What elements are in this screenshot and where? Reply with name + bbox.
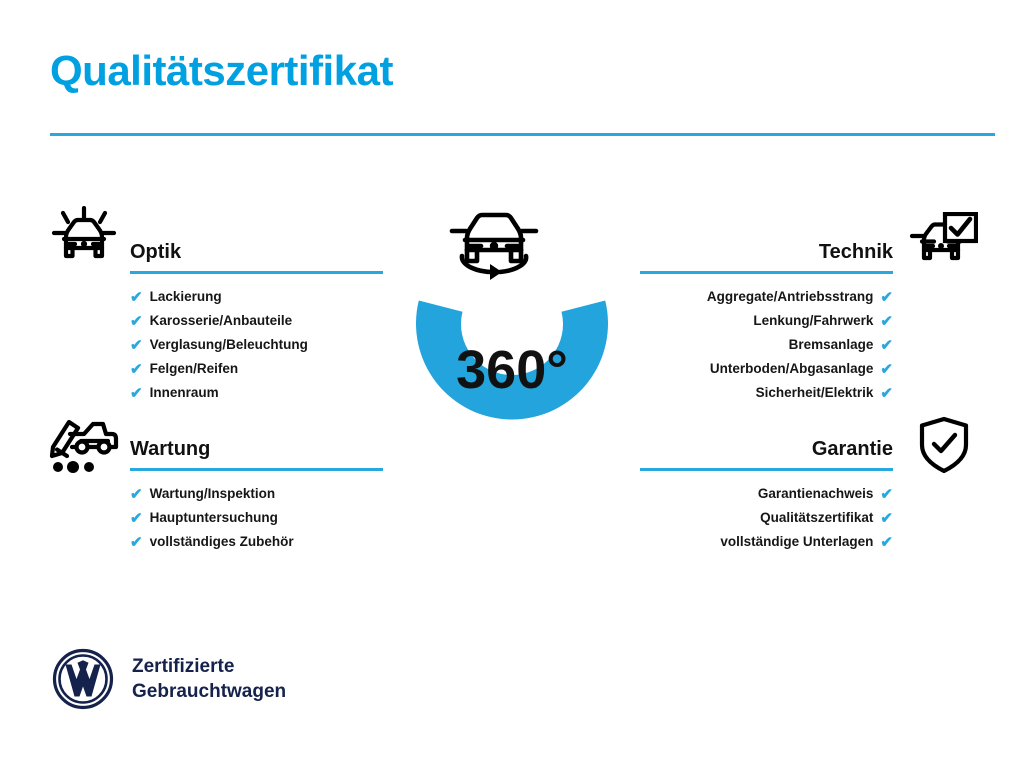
check-icon: ✔: [880, 338, 893, 353]
list-item: ✔vollständiges Zubehör: [130, 530, 383, 554]
list-item: Bremsanlage✔: [640, 333, 893, 357]
check-icon: ✔: [130, 386, 143, 401]
check-icon: ✔: [880, 290, 893, 305]
section-wartung: Wartung ✔Wartung/Inspektion ✔Hauptunters…: [130, 437, 383, 554]
list-item: ✔Verglasung/Beleuchtung: [130, 333, 383, 357]
section-garantie: Garantie Garantienachweis✔ Qualitätszert…: [640, 437, 893, 554]
list-item-label: Felgen/Reifen: [150, 357, 239, 381]
list-item-label: Unterboden/Abgasanlage: [710, 357, 874, 381]
section-divider-technik: [640, 271, 893, 274]
vw-logo: [52, 648, 114, 710]
footer-line-2: Gebrauchtwagen: [132, 679, 286, 704]
section-title-technik: Technik: [640, 240, 893, 264]
list-item-label: vollständiges Zubehör: [150, 530, 294, 554]
check-icon: ✔: [130, 338, 143, 353]
section-divider-optik: [130, 271, 383, 274]
car-checkbox-icon: [908, 212, 978, 277]
section-header-wartung: Wartung: [130, 437, 383, 471]
list-item: Garantienachweis✔: [640, 482, 893, 506]
section-header-garantie: Garantie: [640, 437, 893, 471]
list-item: Sicherheit/Elektrik✔: [640, 381, 893, 405]
pen-car-service-icon: [48, 416, 120, 481]
list-item-label: Qualitätszertifikat: [760, 506, 873, 530]
check-icon: ✔: [880, 314, 893, 329]
section-technik: Technik Aggregate/Antriebsstrang✔ Lenkun…: [640, 240, 893, 405]
list-item: Unterboden/Abgasanlage✔: [640, 357, 893, 381]
list-item-label: Verglasung/Beleuchtung: [150, 333, 308, 357]
checklist-garantie: Garantienachweis✔ Qualitätszertifikat✔ v…: [640, 482, 893, 554]
footer-logo: Zertifizierte Gebrauchtwagen: [52, 648, 286, 710]
check-icon: ✔: [880, 535, 893, 550]
list-item: ✔Lackierung: [130, 285, 383, 309]
header-divider: [50, 133, 995, 136]
car-front-lights-icon: [48, 206, 120, 277]
page-title: Qualitätszertifikat: [50, 50, 393, 92]
list-item: vollständige Unterlagen✔: [640, 530, 893, 554]
list-item-label: Lenkung/Fahrwerk: [753, 309, 873, 333]
check-icon: ✔: [880, 487, 893, 502]
badge-center-label: 360°: [456, 340, 568, 400]
section-divider-garantie: [640, 468, 893, 471]
footer-text: Zertifizierte Gebrauchtwagen: [132, 654, 286, 704]
list-item: ✔Innenraum: [130, 381, 383, 405]
list-item-label: Hauptuntersuchung: [150, 506, 278, 530]
section-optik: Optik ✔Lackierung ✔Karosserie/Anbauteile…: [130, 240, 383, 405]
list-item-label: Karosserie/Anbauteile: [150, 309, 293, 333]
section-divider-wartung: [130, 468, 383, 471]
list-item: ✔Hauptuntersuchung: [130, 506, 383, 530]
check-icon: ✔: [130, 362, 143, 377]
list-item-label: Lackierung: [150, 285, 222, 309]
list-item: ✔Felgen/Reifen: [130, 357, 383, 381]
list-item: Qualitätszertifikat✔: [640, 506, 893, 530]
checklist-optik: ✔Lackierung ✔Karosserie/Anbauteile ✔Verg…: [130, 285, 383, 405]
section-header-optik: Optik: [130, 240, 383, 274]
section-title-garantie: Garantie: [640, 437, 893, 461]
list-item-label: Sicherheit/Elektrik: [756, 381, 874, 405]
shield-check-icon: [918, 416, 970, 479]
car-rotate-360-icon: [452, 215, 536, 280]
check-icon: ✔: [130, 535, 143, 550]
check-icon: ✔: [130, 487, 143, 502]
check-icon: ✔: [130, 290, 143, 305]
list-item-label: vollständige Unterlagen: [720, 530, 873, 554]
list-item: ✔Karosserie/Anbauteile: [130, 309, 383, 333]
list-item-label: Wartung/Inspektion: [150, 482, 276, 506]
check-icon: ✔: [880, 386, 893, 401]
check-icon: ✔: [130, 511, 143, 526]
checklist-technik: Aggregate/Antriebsstrang✔ Lenkung/Fahrwe…: [640, 285, 893, 405]
badge-360-gebrauchtwagen-check: Gebrauchtwagen-Check 360°: [378, 188, 646, 488]
list-item-label: Garantienachweis: [758, 482, 874, 506]
section-title-optik: Optik: [130, 240, 383, 264]
check-icon: ✔: [880, 362, 893, 377]
check-icon: ✔: [130, 314, 143, 329]
list-item: ✔Wartung/Inspektion: [130, 482, 383, 506]
list-item-label: Bremsanlage: [789, 333, 874, 357]
list-item-label: Innenraum: [150, 381, 219, 405]
list-item: Lenkung/Fahrwerk✔: [640, 309, 893, 333]
checklist-wartung: ✔Wartung/Inspektion ✔Hauptuntersuchung ✔…: [130, 482, 383, 554]
footer-line-1: Zertifizierte: [132, 654, 286, 679]
list-item-label: Aggregate/Antriebsstrang: [707, 285, 874, 309]
section-title-wartung: Wartung: [130, 437, 383, 461]
section-header-technik: Technik: [640, 240, 893, 274]
list-item: Aggregate/Antriebsstrang✔: [640, 285, 893, 309]
check-icon: ✔: [880, 511, 893, 526]
